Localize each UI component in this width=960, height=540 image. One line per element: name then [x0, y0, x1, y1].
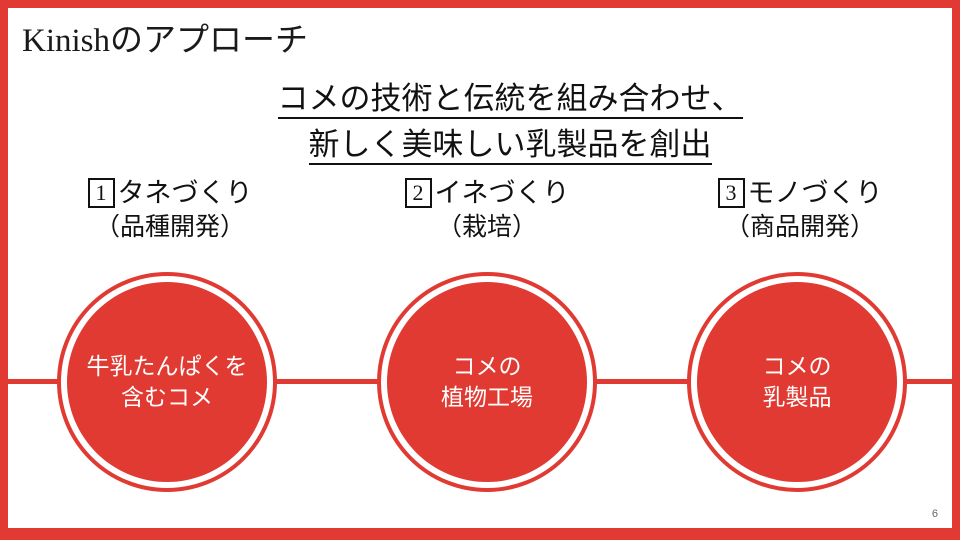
step-number-badge-2: 2	[405, 178, 432, 208]
circle-text-line-3b: 乳製品	[763, 382, 832, 413]
slide-border-left	[0, 0, 8, 540]
step-heading-row-3: 3 モノづくり	[650, 176, 950, 210]
step-heading-label-3: モノづくり	[748, 176, 883, 210]
circle-inner-disc-1: 牛乳たんぱくを 含むコメ	[67, 282, 267, 482]
slide-border-bottom	[0, 528, 960, 540]
circle-text-line-3a: コメの	[763, 351, 832, 382]
slide-canvas: Kinishのアプローチ コメの技術と伝統を組み合わせ、 新しく美味しい乳製品を…	[0, 0, 960, 540]
circle-inner-disc-2: コメの 植物工場	[387, 282, 587, 482]
step-subheading-label-1: （品種開発）	[20, 212, 320, 244]
step-heading-row-1: 1 タネづくり	[20, 176, 320, 210]
slide-border-right	[952, 0, 960, 540]
slide-subtitle-line-1: コメの技術と伝統を組み合わせ、	[0, 76, 960, 121]
step-header-3: 3 モノづくり （商品開発）	[650, 176, 950, 244]
step-heading-label-2: イネづくり	[435, 176, 570, 210]
subtitle-underlined-text-1: コメの技術と伝統を組み合わせ、	[278, 81, 743, 119]
subtitle-underlined-text-2: 新しく美味しい乳製品を創出	[309, 127, 712, 165]
step-subheading-label-3: （商品開発）	[650, 212, 950, 244]
step-header-1: 1 タネづくり （品種開発）	[20, 176, 320, 244]
step-header-2: 2 イネづくり （栽培）	[337, 176, 637, 244]
process-circle-3: コメの 乳製品	[687, 272, 907, 492]
circle-text-line-1a: 牛乳たんぱくを	[87, 351, 248, 382]
circle-text-line-2b: 植物工場	[441, 382, 533, 413]
circle-inner-disc-3: コメの 乳製品	[697, 282, 897, 482]
slide-subtitle-line-2: 新しく美味しい乳製品を創出	[0, 122, 960, 167]
step-number-badge-1: 1	[88, 178, 115, 208]
page-number: 6	[932, 508, 938, 520]
circle-text-line-2a: コメの	[453, 351, 522, 382]
process-circle-2: コメの 植物工場	[377, 272, 597, 492]
process-circle-1: 牛乳たんぱくを 含むコメ	[57, 272, 277, 492]
slide-border-top	[0, 0, 960, 8]
step-subheading-label-2: （栽培）	[337, 212, 637, 244]
circle-text-line-1b: 含むコメ	[121, 382, 213, 413]
step-heading-row-2: 2 イネづくり	[337, 176, 637, 210]
step-number-badge-3: 3	[718, 178, 745, 208]
slide-title: Kinishのアプローチ	[22, 21, 308, 61]
step-heading-label-1: タネづくり	[118, 176, 253, 210]
